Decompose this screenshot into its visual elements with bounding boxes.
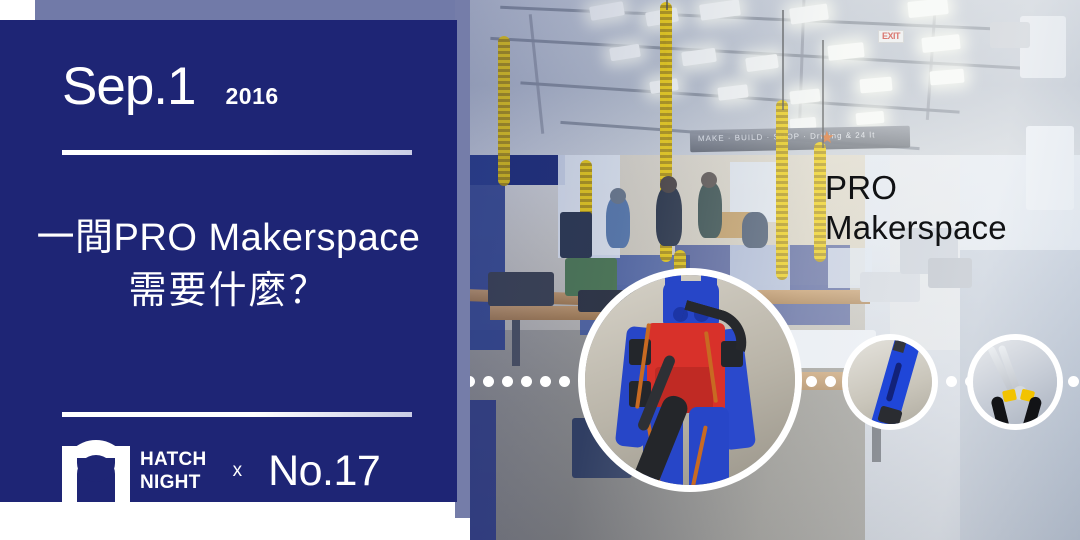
circle-utility-knife (842, 334, 938, 430)
connector-dot (559, 376, 570, 387)
photo-overlay-title-line2: Makerspace (825, 208, 1007, 248)
lockup-separator: x (233, 460, 243, 482)
circle-content (585, 275, 795, 485)
circle-robot-with-soldering-iron (578, 268, 802, 492)
connector-dot (540, 376, 551, 387)
divider-bottom (62, 412, 412, 417)
event-date-year: 2016 (226, 83, 279, 110)
connector-dot (483, 376, 494, 387)
connector-dot (521, 376, 532, 387)
circle-content (848, 340, 932, 424)
monogram-left-stem (62, 446, 77, 502)
issue-number: No.17 (268, 447, 380, 496)
dotted-connector-mid (806, 376, 842, 387)
connector-dot (806, 376, 817, 387)
brand-lockup: HATCH NIGHT x No.17 (62, 440, 380, 502)
page-title: 一間PRO Makerspace 需要什麼？ (0, 212, 457, 318)
circle-content (973, 340, 1057, 424)
title-card: Sep.1 2016 一間PRO Makerspace 需要什麼？ HATCH … (0, 20, 457, 502)
photo-overlay-title: PRO Makerspace (825, 168, 1007, 248)
dotted-connector-edge (1068, 376, 1080, 387)
monogram-right-stem (115, 446, 130, 502)
page-title-line1: 一間PRO Makerspace (0, 212, 457, 265)
top-left-white-notch (0, 0, 35, 20)
event-date-day: Sep.1 (62, 56, 196, 117)
divider-top (62, 150, 412, 155)
connector-dot (825, 376, 836, 387)
bottom-white-band (0, 518, 470, 540)
brand-word-top: HATCH (140, 448, 207, 471)
page-title-line2: 需要什麼？ (0, 265, 457, 318)
circle-needle-nose-pliers (967, 334, 1063, 430)
connector-dot (946, 376, 957, 387)
brand-word-bottom: NIGHT (140, 471, 207, 494)
brand-wordmark: HATCH NIGHT (140, 448, 207, 494)
connector-dot (502, 376, 513, 387)
hatch-night-m-monogram-icon (62, 440, 136, 502)
dotted-connector-left (464, 376, 580, 387)
connector-dot (1068, 376, 1079, 387)
right-accent-strip (455, 0, 470, 518)
poster-canvas: EXIT MAKE · BUILD · SHOP · Drilling & 24… (0, 0, 1080, 540)
event-date: Sep.1 2016 (62, 56, 279, 117)
top-accent-strip (0, 0, 470, 20)
photo-overlay-title-line1: PRO (825, 168, 1007, 208)
